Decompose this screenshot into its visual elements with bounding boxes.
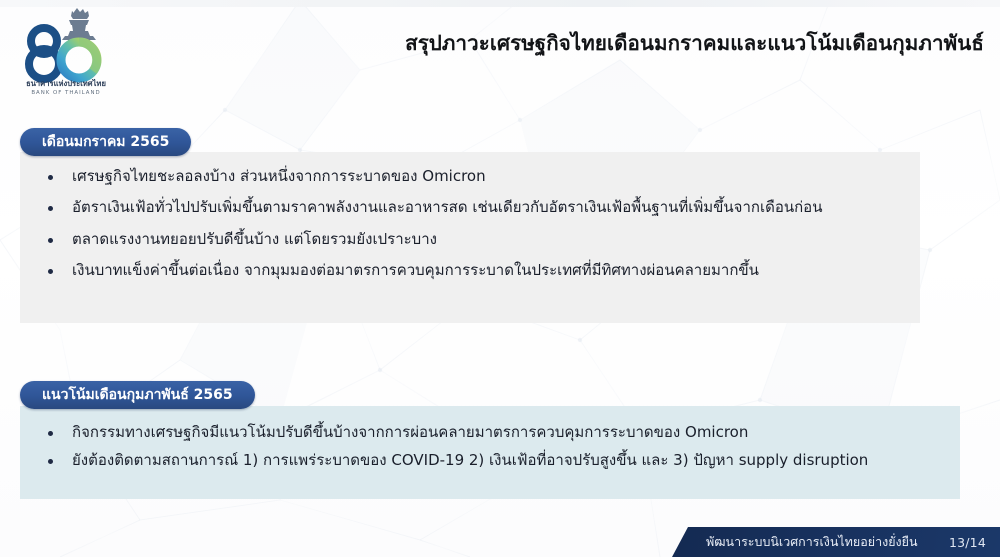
list-item: เศรษฐกิจไทยชะลอลงบ้าง ส่วนหนึ่งจากการระบ… xyxy=(48,166,902,186)
bullet-list-february: กิจกรรมทางเศรษฐกิจมีแนวโน้มปรับดีขึ้นบ้า… xyxy=(20,406,960,471)
bullet-text: อัตราเงินเฟ้อทั่วไปปรับเพิ่มขึ้นตามราคาพ… xyxy=(72,197,822,217)
slide-footer: พัฒนาระบบนิเวศการเงินไทยอย่างยั่งยืน 13/… xyxy=(672,527,1000,557)
bullet-text: ยังต้องติดตามสถานการณ์ 1) การแพร่ระบาดขอ… xyxy=(72,450,868,470)
list-item: ตลาดแรงงานทยอยปรับดีขึ้นบ้าง แต่โดยรวมยั… xyxy=(48,229,902,249)
panel-february: กิจกรรมทางเศรษฐกิจมีแนวโน้มปรับดีขึ้นบ้า… xyxy=(20,406,960,499)
numeral-eight xyxy=(29,28,59,79)
panel-january: เศรษฐกิจไทยชะลอลงบ้าง ส่วนหนึ่งจากการระบ… xyxy=(20,152,920,323)
bullet-dot-icon xyxy=(48,269,53,274)
bullet-dot-icon xyxy=(48,175,53,180)
list-item: เงินบาทแข็งค่าขึ้นต่อเนื่อง จากมุมมองต่อ… xyxy=(48,260,902,280)
list-item: ยังต้องติดตามสถานการณ์ 1) การแพร่ระบาดขอ… xyxy=(48,450,942,470)
bullet-list-january: เศรษฐกิจไทยชะลอลงบ้าง ส่วนหนึ่งจากการระบ… xyxy=(20,152,920,280)
bullet-text: เศรษฐกิจไทยชะลอลงบ้าง ส่วนหนึ่งจากการระบ… xyxy=(72,166,486,186)
bullet-dot-icon xyxy=(48,431,53,436)
bullet-dot-icon xyxy=(48,459,53,464)
slide-header: ธนาคารแห่งประเทศไทย BANK OF THAILAND สรุ… xyxy=(0,0,1000,104)
bullet-dot-icon xyxy=(48,206,53,211)
bullet-text: ตลาดแรงงานทยอยปรับดีขึ้นบ้าง แต่โดยรวมยั… xyxy=(72,229,437,249)
footer-page-number: 13/14 xyxy=(949,535,986,550)
bullet-text: กิจกรรมทางเศรษฐกิจมีแนวโน้มปรับดีขึ้นบ้า… xyxy=(72,422,748,442)
page-title: สรุปภาวะเศรษฐกิจไทยเดือนมกราคมและแนวโน้ม… xyxy=(405,27,984,60)
bullet-dot-icon xyxy=(48,238,53,243)
list-item: กิจกรรมทางเศรษฐกิจมีแนวโน้มปรับดีขึ้นบ้า… xyxy=(48,422,942,442)
footer-tagline: พัฒนาระบบนิเวศการเงินไทยอย่างยั่งยืน xyxy=(706,532,918,552)
numeral-zero-ring xyxy=(61,42,97,78)
bullet-text: เงินบาทแข็งค่าขึ้นต่อเนื่อง จากมุมมองต่อ… xyxy=(72,260,759,280)
logo-org-name-en: BANK OF THAILAND xyxy=(31,90,100,96)
list-item: อัตราเงินเฟ้อทั่วไปปรับเพิ่มขึ้นตามราคาพ… xyxy=(48,197,902,217)
section-badge-january[interactable]: เดือนมกราคม 2565 xyxy=(20,128,191,156)
bank-of-thailand-80th-logo: ธนาคารแห่งประเทศไทย BANK OF THAILAND xyxy=(12,6,120,98)
slide-canvas: ธนาคารแห่งประเทศไทย BANK OF THAILAND สรุ… xyxy=(0,0,1000,557)
logo-org-name-th: ธนาคารแห่งประเทศไทย xyxy=(26,78,106,88)
section-badge-february[interactable]: แนวโน้มเดือนกุมภาพันธ์ 2565 xyxy=(20,381,255,409)
